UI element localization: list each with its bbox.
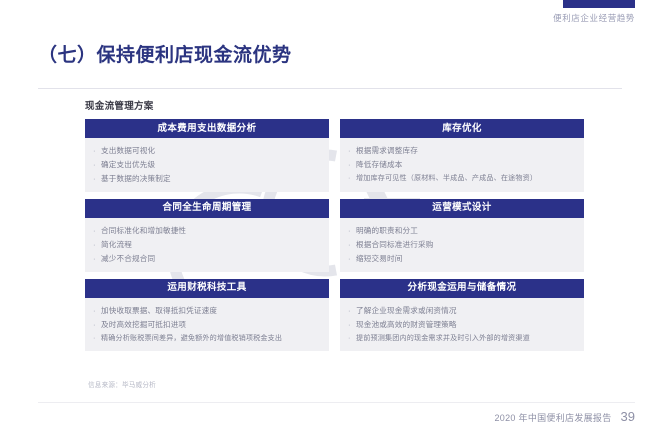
card-bullet: 减少不合规合同: [92, 252, 323, 266]
card-bullet: 加快收取票据、取得抵扣凭证速度: [92, 303, 323, 317]
footer-divider: [38, 402, 635, 403]
page-footer: 2020 年中国便利店发展报告 39: [495, 409, 636, 424]
card-title: 运营模式设计: [340, 199, 584, 218]
exhibit-cash-flow-plan: 现金流管理方案 成本费用支出数据分析 支出数据可视化 确定支出优先级 基于数据的…: [85, 98, 585, 351]
card-bullet: 降低存储成本: [347, 158, 578, 172]
footer-report-title: 2020 年中国便利店发展报告: [495, 411, 612, 424]
card-contract-lifecycle-management: 合同全生命周期管理 合同标准化和增加敏捷性 简化流程 减少不合规合同: [85, 199, 329, 272]
card-bullet: 及时高效挖掘可抵扣进项: [92, 318, 323, 332]
card-inventory-optimization: 库存优化 根据需求调整库存 降低存储成本 增加库存可见性（原材料、半成品、产成品…: [340, 119, 584, 192]
running-head: 便利店企业经营趋势: [553, 12, 635, 24]
title-divider: [38, 88, 622, 89]
card-bullet: 了解企业现金需求或闲资情况: [347, 303, 578, 317]
card-bullet: 基于数据的决策制定: [92, 172, 323, 186]
card-body: 合同标准化和增加敏捷性 简化流程 减少不合规合同: [85, 218, 329, 272]
card-bullet: 根据合同标准进行采购: [347, 238, 578, 252]
card-bullet: 根据需求调整库存: [347, 143, 578, 157]
card-bullet: 精确分析账税票间差异，避免额外的增值税销项税金支出: [92, 332, 323, 345]
card-body: 支出数据可视化 确定支出优先级 基于数据的决策制定: [85, 138, 329, 192]
card-bullet: 增加库存可见性（原材料、半成品、产成品、在途物资）: [347, 172, 578, 185]
card-bullet: 提前预测集团内的现金需求并及时引入外部的增资渠道: [347, 332, 578, 345]
card-title: 运用财税科技工具: [85, 279, 329, 298]
card-bullet: 明确的职责和分工: [347, 223, 578, 237]
card-title: 合同全生命周期管理: [85, 199, 329, 218]
footer-page-number: 39: [621, 409, 635, 424]
card-bullet: 简化流程: [92, 238, 323, 252]
card-body: 了解企业现金需求或闲资情况 现金池或高效的财资管理策略 提前预测集团内的现金需求…: [340, 298, 584, 351]
card-grid: 成本费用支出数据分析 支出数据可视化 确定支出优先级 基于数据的决策制定 库存优…: [85, 119, 585, 351]
card-body: 加快收取票据、取得抵扣凭证速度 及时高效挖掘可抵扣进项 精确分析账税票间差异，避…: [85, 298, 329, 351]
card-bullet: 缩短交易时间: [347, 252, 578, 266]
header-accent-bar: [563, 0, 635, 8]
card-bullet: 合同标准化和增加敏捷性: [92, 223, 323, 237]
card-body: 明确的职责和分工 根据合同标准进行采购 缩短交易时间: [340, 218, 584, 272]
card-bullet: 确定支出优先级: [92, 158, 323, 172]
card-title: 分析现金运用与储备情况: [340, 279, 584, 298]
card-bullet: 现金池或高效的财资管理策略: [347, 318, 578, 332]
card-tax-technology-tools: 运用财税科技工具 加快收取票据、取得抵扣凭证速度 及时高效挖掘可抵扣进项 精确分…: [85, 279, 329, 351]
card-title: 库存优化: [340, 119, 584, 138]
source-note: 信息来源：毕马威分析: [88, 379, 156, 389]
card-body: 根据需求调整库存 降低存储成本 增加库存可见性（原材料、半成品、产成品、在途物资…: [340, 138, 584, 191]
report-page: 便利店企业经营趋势 （七）保持便利店现金流优势 现金流管理方案 成本费用支出数据…: [0, 0, 660, 441]
card-title: 成本费用支出数据分析: [85, 119, 329, 138]
card-operating-model-design: 运营模式设计 明确的职责和分工 根据合同标准进行采购 缩短交易时间: [340, 199, 584, 272]
exhibit-title: 现金流管理方案: [85, 98, 585, 112]
card-bullet: 支出数据可视化: [92, 143, 323, 157]
card-cash-usage-reserve-analysis: 分析现金运用与储备情况 了解企业现金需求或闲资情况 现金池或高效的财资管理策略 …: [340, 279, 584, 351]
page-title: （七）保持便利店现金流优势: [38, 40, 292, 67]
card-cost-expense-analysis: 成本费用支出数据分析 支出数据可视化 确定支出优先级 基于数据的决策制定: [85, 119, 329, 192]
